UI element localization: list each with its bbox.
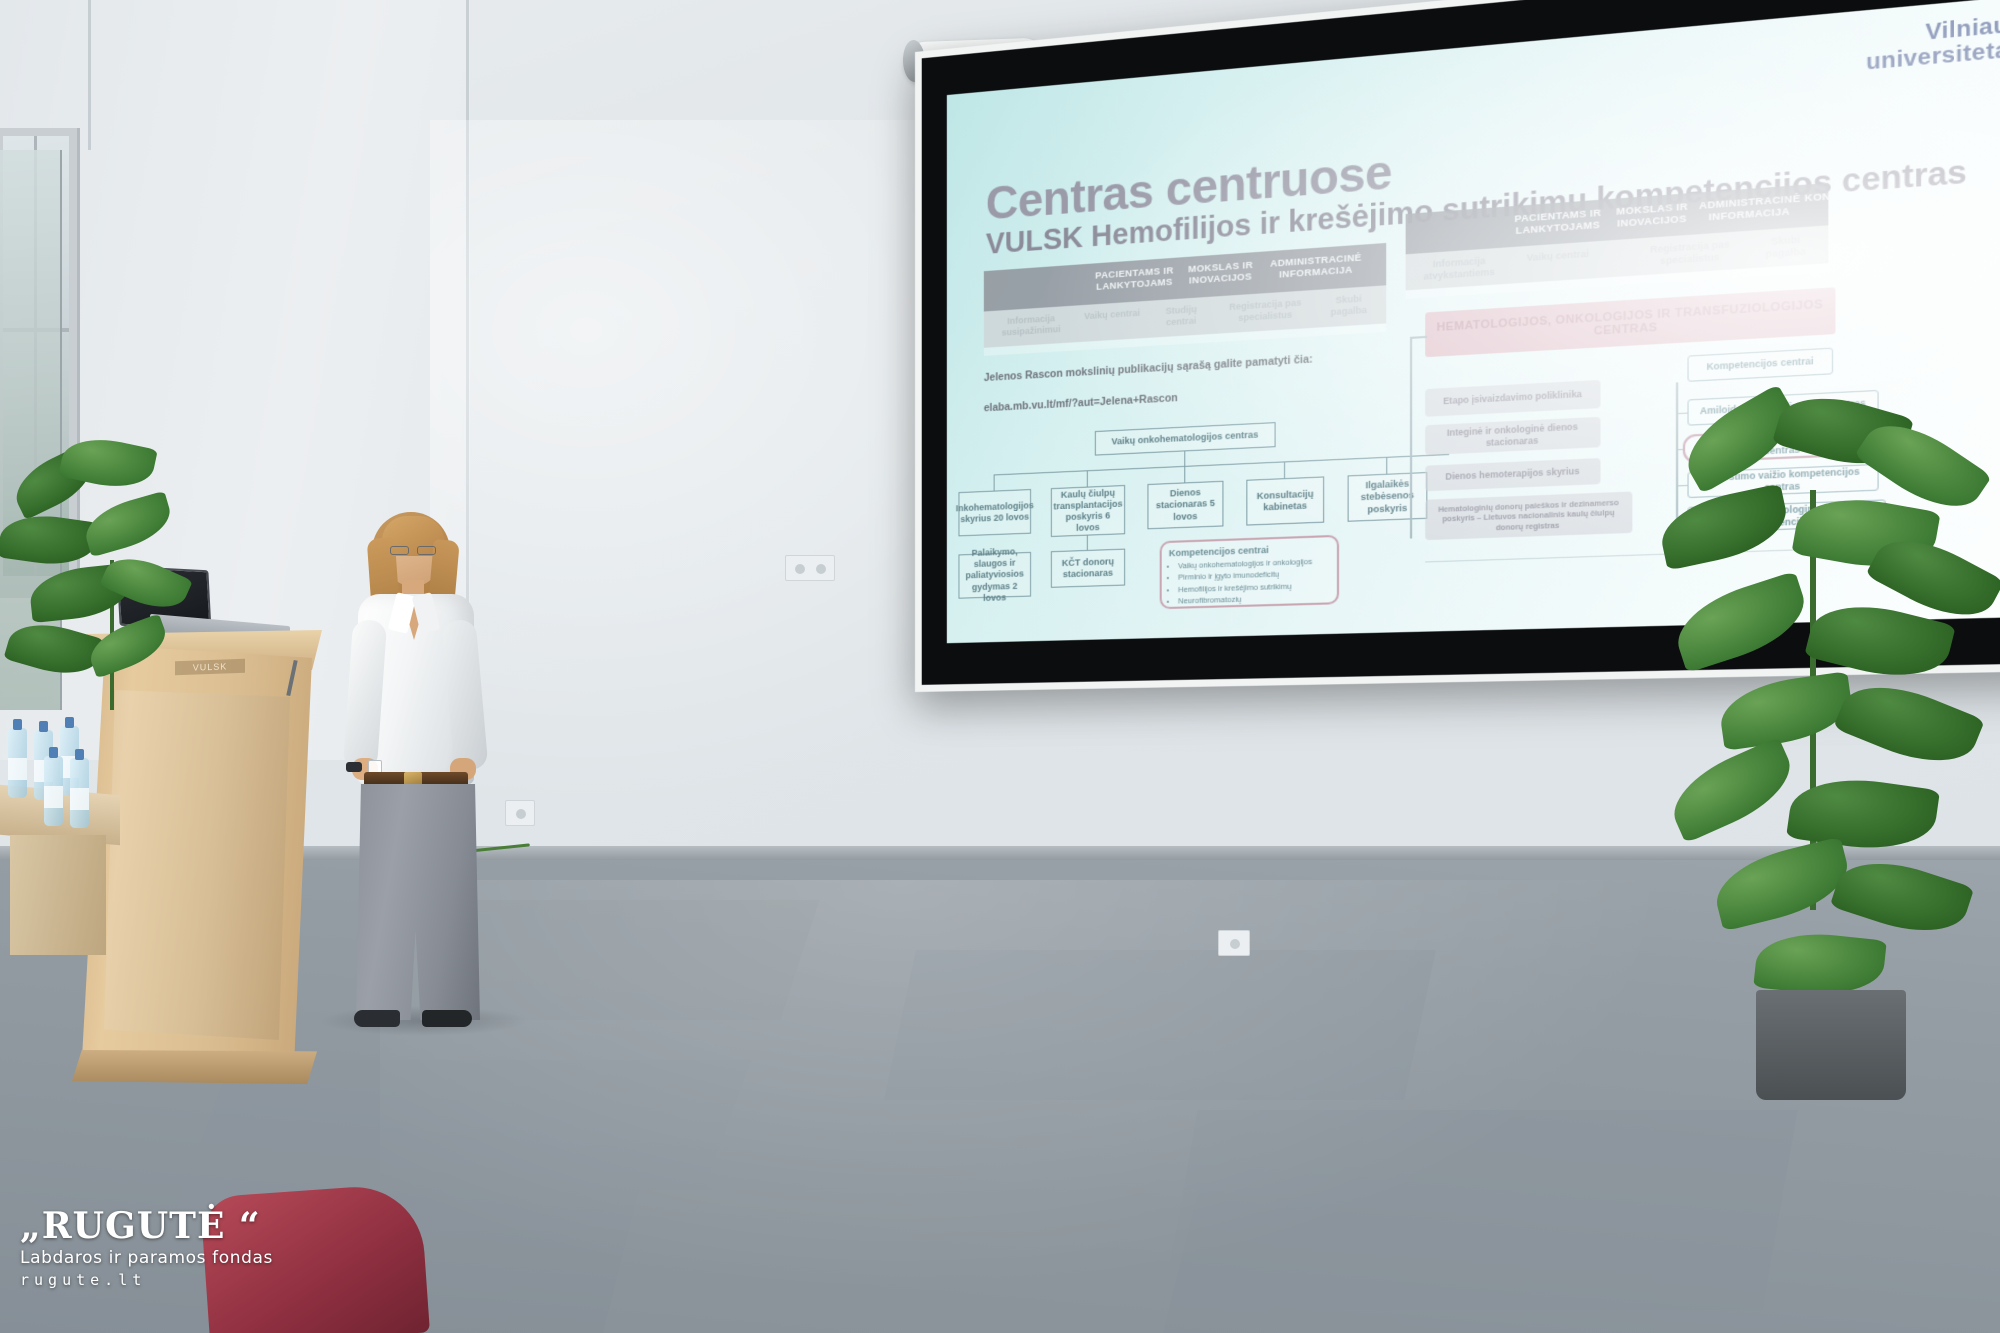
- org-rail: [994, 454, 1450, 476]
- nav-item-0: PACIENTAMS IR LANKYTOJAMS: [1091, 266, 1178, 294]
- podium-base: [72, 1050, 317, 1084]
- rt-left-node-2: Dienos hemoterapijos skyrius: [1425, 458, 1600, 491]
- org-child-1: Kaulų čiulpų transplantacijos poskyris 6…: [1051, 485, 1125, 537]
- org-second-1: KČT donorų stacionaras: [1051, 549, 1125, 588]
- watermark-title: „RUGUTĖ “: [20, 1208, 320, 1244]
- competence-centers-box: Kompetencijos centrai Vaikų onkohematolo…: [1160, 535, 1339, 609]
- presenter-glasses: [390, 546, 436, 555]
- presenter-grey-trousers: [356, 784, 480, 1020]
- presenter-shoe-right: [422, 1010, 472, 1027]
- r-sub-item-0: Informacija atvykstantiems: [1412, 254, 1506, 283]
- side-table-leg: [10, 835, 106, 955]
- rt-vert: [1410, 337, 1412, 539]
- sub-item-3: Registracija pas specialistus: [1221, 297, 1309, 325]
- room-photo-scene: Vilniaus universitetas Centras centruose…: [0, 0, 2000, 1333]
- potted-plant-right: [1660, 400, 2000, 1100]
- org-child-0: Inkohematologijos skyrius 20 lovos: [958, 489, 1031, 536]
- org-second-0: Palaikymo, slaugos ir paliatyviosios gyd…: [958, 552, 1031, 599]
- r-sub-item-3: Skubi pagalba: [1750, 232, 1821, 261]
- potted-plant-left: [0, 440, 230, 760]
- watermark-url: rugute.lt: [20, 1271, 320, 1289]
- presenter: [330, 510, 510, 1030]
- r-sub-item-1: Vaikų centrai: [1526, 248, 1589, 264]
- water-bottle-5: [70, 758, 89, 828]
- r-nav-item-1: MOKSLAS IR INOVACIJOS: [1614, 202, 1690, 231]
- wall-outlet-floor[interactable]: [1218, 930, 1250, 956]
- org-drop-2: [1184, 466, 1185, 483]
- org-drop-3: [1284, 461, 1285, 478]
- org-drop-4: [1386, 457, 1387, 474]
- nav-item-1: MOKSLAS IR INOVACIJOS: [1184, 260, 1257, 288]
- water-bottle-4: [44, 756, 63, 826]
- r-nav-item-0: PACIENTAMS IR LANKYTOJAMS: [1511, 208, 1605, 238]
- sub-item-0: Informacija susipažinimui: [990, 312, 1073, 339]
- org-drop-0: [994, 474, 995, 490]
- sub-item-1: Vaikų centrai: [1083, 307, 1142, 322]
- r-nav-item-2: ADMINISTRACINĖ INFORMACIJA: [1699, 194, 1800, 225]
- r-nav-item-3: KON: [1805, 192, 1829, 206]
- org-drop-1: [1087, 470, 1088, 486]
- rt-left-node-0: Etapo įsivaizdavimo poliklinika: [1425, 380, 1600, 417]
- publications-note: Jelenos Rascon mokslinių publikacijų sąr…: [984, 353, 1313, 384]
- rt-left-node-3: Hematologinių donorų paieškos ir dezinam…: [1425, 492, 1632, 541]
- org-child-3: Konsultacijų kabinetas: [1246, 476, 1324, 525]
- hematology-banner: HEMATOLOGIJOS, ONKOLOGIJOS IR TRANSFUZIO…: [1425, 287, 1835, 357]
- rt-competence-title: Kompetencijos centrai: [1687, 348, 1833, 382]
- org-trunk: [1184, 451, 1185, 466]
- presenter-shoe-left: [354, 1010, 400, 1027]
- sub-item-2: Studijų centrai: [1152, 303, 1212, 329]
- wall-outlet-double[interactable]: [785, 555, 835, 581]
- org-child-4: Ilgalaikės stebėsenos poskyris: [1348, 472, 1428, 522]
- watermark-subtitle: Labdaros ir paramos fondas: [20, 1248, 320, 1268]
- left-website-screenshot: PACIENTAMS IR LANKYTOJAMS MOKSLAS IR INO…: [984, 243, 1386, 356]
- org-child-2: Dienos stacionaras 5 lovos: [1147, 481, 1223, 530]
- nav-item-2: ADMINISTRACINĖ INFORMACIJA: [1265, 253, 1367, 283]
- org-drop-second-1: [1087, 536, 1088, 550]
- r-sub-item-2: Registracija pas specialistus: [1641, 238, 1738, 268]
- competence-centers-list: Vaikų onkohematologijos ir onkologijos P…: [1169, 555, 1330, 607]
- sub-item-4: Skubi pagalba: [1318, 292, 1380, 319]
- presentation-clicker[interactable]: [346, 762, 362, 772]
- rugute-foundation-watermark: „RUGUTĖ “ Labdaros ir paramos fondas rug…: [20, 1208, 320, 1289]
- publications-url: elaba.mb.vu.lt/mf/?aut=Jelena+Rascon: [984, 392, 1178, 415]
- plant-pot-right: [1756, 990, 1906, 1100]
- rt-left-node-1: Integinė ir onkologinė dienos stacionara…: [1425, 417, 1600, 455]
- vilnius-university-logo: Vilniaus universitetas: [1866, 12, 2000, 76]
